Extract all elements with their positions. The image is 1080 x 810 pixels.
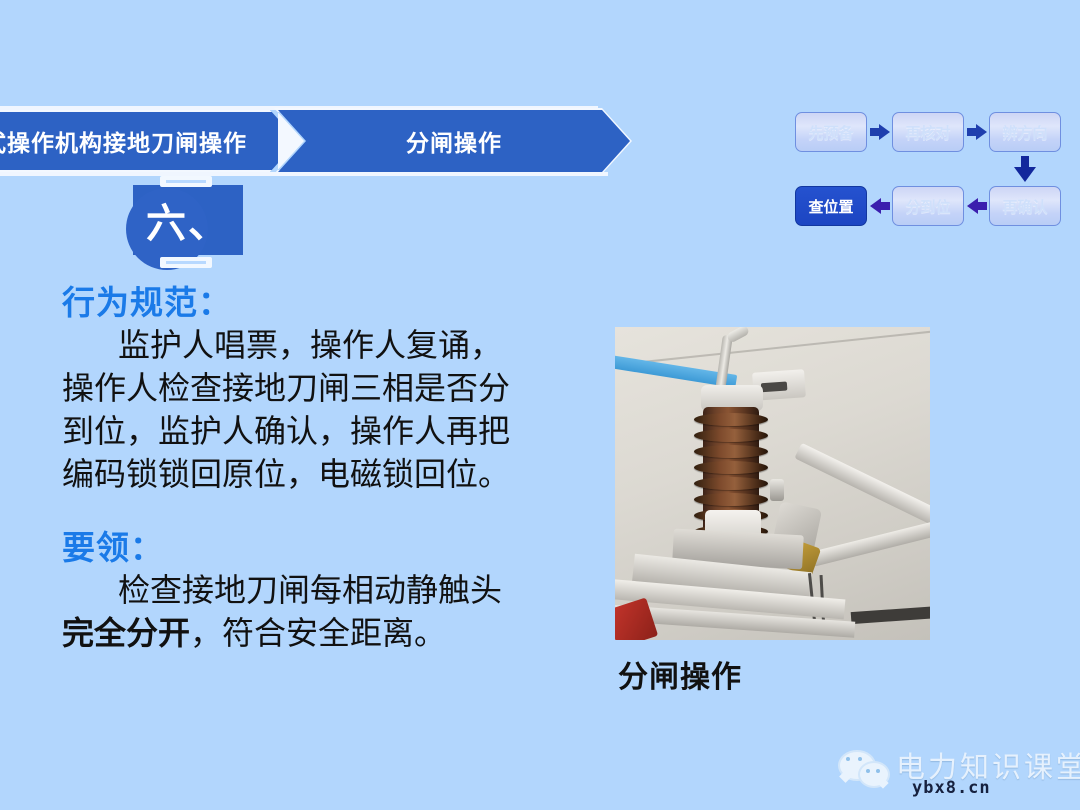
watermark-url: ybx8.cn: [912, 778, 991, 798]
process-flow-diagram: 先预备 再核对 辨方向 再确认 分到位 查位置: [795, 112, 1075, 234]
flow-step-6-active[interactable]: 查位置: [795, 186, 867, 226]
flow-step-1[interactable]: 先预备: [795, 112, 867, 152]
flow-step-5[interactable]: 分到位: [892, 186, 964, 226]
header-banner: 式操作机构接地刀闸操作 分闸操作: [0, 110, 628, 172]
section1-line-4: 编码锁锁回原位，电磁锁回位。: [62, 456, 510, 492]
banner-top-rule: [0, 106, 598, 110]
equipment-photo: [615, 327, 930, 640]
banner-bottom-rule: [0, 172, 608, 176]
flow-arrow-right-1: [870, 124, 890, 140]
watermark: 电力知识课堂 ybx8.cn: [838, 742, 1078, 804]
section2-body: 检查接地刀闸每相动静触头 完全分开，符合安全距离。: [62, 569, 592, 655]
flow-arrow-right-2: [967, 124, 987, 140]
section1-line-2: 操作人检查接地刀闸三相是否分: [62, 370, 510, 406]
photo-bolt: [770, 479, 784, 501]
flow-arrow-down: [1014, 156, 1036, 182]
flow-arrow-left-2: [967, 198, 987, 214]
photo-caption: 分闸操作: [618, 652, 742, 696]
wechat-icon: [838, 748, 896, 788]
banner-segment-subtitle: 分闸操作: [278, 110, 630, 172]
badge-number-label: 六、: [133, 185, 243, 255]
content-column: 行为规范： 监护人唱票，操作人复诵， 操作人检查接地刀闸三相是否分 到位，监护人…: [62, 284, 592, 655]
section2-emphasis: 完全分开: [62, 615, 190, 651]
banner-segment-title: 式操作机构接地刀闸操作: [0, 110, 298, 172]
banner-segment-subtitle-label: 分闸操作: [406, 124, 502, 158]
badge-clip-top-icon: [160, 176, 212, 187]
section1-heading: 行为规范：: [62, 284, 592, 322]
section1-body: 监护人唱票，操作人复诵， 操作人检查接地刀闸三相是否分 到位，监护人确认，操作人…: [62, 324, 592, 496]
badge-clip-bottom-icon: [160, 257, 212, 268]
flow-step-2[interactable]: 再核对: [892, 112, 964, 152]
slide-root: 式操作机构接地刀闸操作 分闸操作 六、 先预备 再核对 辨方向 再确认 分到位 …: [0, 0, 1080, 810]
section2-line-2-rest: ，符合安全距离。: [190, 615, 446, 651]
section2-line-1: 检查接地刀闸每相动静触头: [118, 572, 502, 608]
flow-arrow-left-1: [870, 198, 890, 214]
banner-segment-title-label: 式操作机构接地刀闸操作: [0, 124, 247, 158]
section-behavior-norms: 行为规范： 监护人唱票，操作人复诵， 操作人检查接地刀闸三相是否分 到位，监护人…: [62, 284, 592, 495]
section1-line-1: 监护人唱票，操作人复诵，: [118, 327, 502, 363]
section2-heading: 要领：: [62, 529, 592, 567]
section1-line-3: 到位，监护人确认，操作人再把: [62, 413, 510, 449]
section-key-points: 要领： 检查接地刀闸每相动静触头 完全分开，符合安全距离。: [62, 529, 592, 655]
flow-step-4[interactable]: 再确认: [989, 186, 1061, 226]
flow-step-3[interactable]: 辨方向: [989, 112, 1061, 152]
